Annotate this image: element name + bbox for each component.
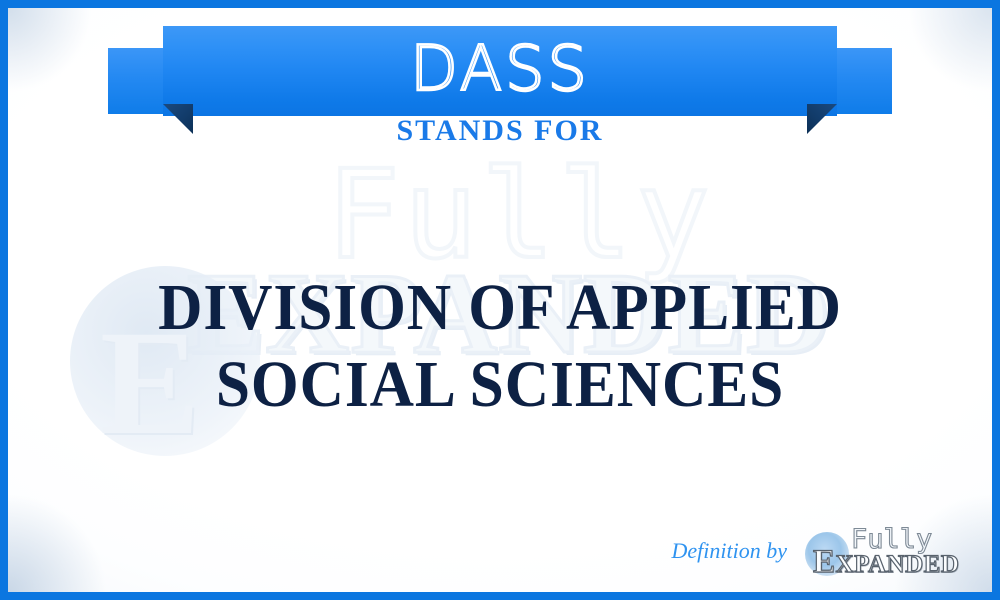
fully-expanded-logo[interactable]: Fully EXPANDED	[805, 528, 970, 574]
stands-for-label: STANDS FOR	[8, 114, 992, 148]
acronym-title: DASS	[163, 38, 837, 100]
card-surface: E Fully EXPANDED DASS STANDS FOR DIVISIO…	[8, 8, 992, 592]
definition-card-image: E Fully EXPANDED DASS STANDS FOR DIVISIO…	[0, 0, 1000, 600]
logo-word-bottom-cap: E	[813, 544, 836, 580]
ribbon-body: DASS	[163, 26, 837, 116]
logo-word-bottom-rest: XPANDED	[836, 551, 960, 578]
logo-word-bottom: EXPANDED	[813, 546, 959, 579]
footer: Definition by Fully EXPANDED	[672, 528, 970, 574]
credit-label: Definition by	[672, 538, 787, 564]
definition-line-1: DIVISION OF APPLIED	[80, 270, 921, 347]
definition-text: DIVISION OF APPLIED SOCIAL SCIENCES	[80, 270, 921, 423]
definition-line-2: SOCIAL SCIENCES	[80, 347, 921, 424]
watermark-word-top: Fully	[48, 158, 992, 274]
